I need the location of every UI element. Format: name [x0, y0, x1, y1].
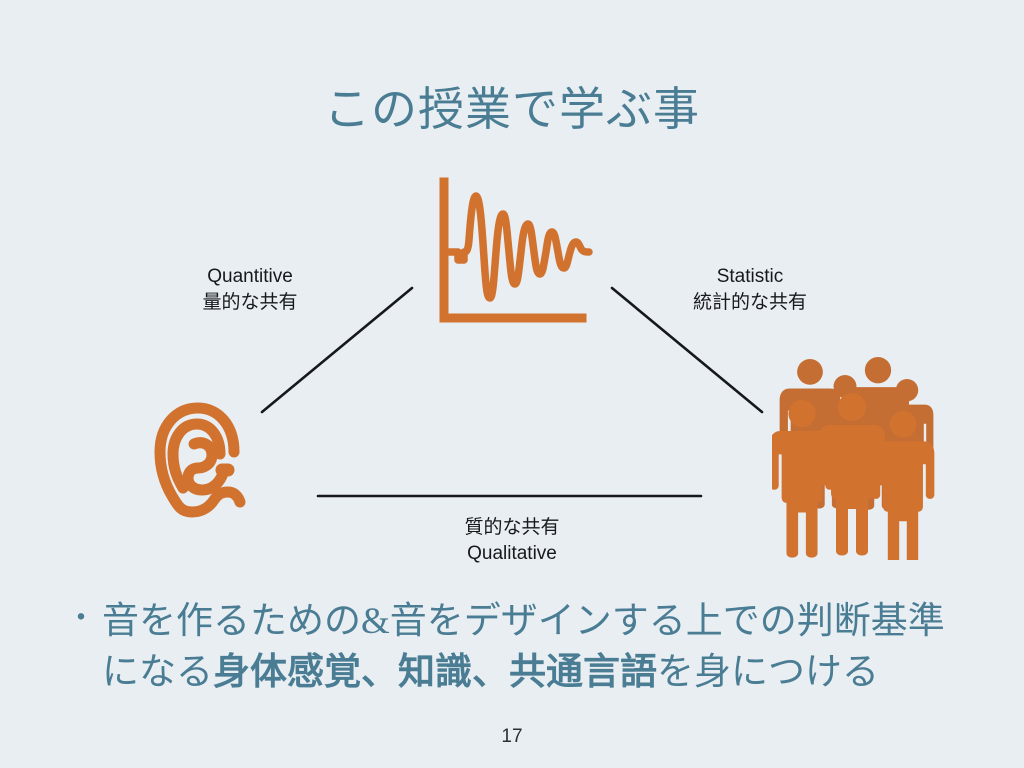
page-title: この授業で学ぶ事	[0, 84, 1024, 137]
bullet-text: 音を作るための&音をデザインする上での判断基準 になる身体感覚、知識、共通言語を…	[102, 596, 980, 698]
bullet-line-2-suffix: を身につける	[657, 652, 879, 693]
node-label-statistic: Statistic 統計的な共有	[620, 264, 880, 316]
bullet-list: ・ 音を作るための&音をデザインする上での判断基準 になる身体感覚、知識、共通言…	[60, 596, 980, 698]
node-label-qualitative-ja: 質的な共有	[372, 515, 652, 541]
waveform-icon	[424, 170, 604, 330]
triangle-diagram: Quantitive 量的な共有 Statistic 統計的な共有 質的な共有 …	[0, 150, 1024, 590]
bullet-marker: ・	[60, 596, 102, 643]
bullet-line-2: になる身体感覚、知識、共通言語を身につける	[102, 647, 980, 698]
bullet-line-2-prefix: になる	[102, 652, 213, 693]
node-label-quantitive-en: Quantitive	[120, 264, 380, 290]
node-label-qualitative: 質的な共有 Qualitative	[372, 515, 652, 567]
ear-icon	[148, 400, 260, 520]
list-item: ・ 音を作るための&音をデザインする上での判断基準 になる身体感覚、知識、共通言…	[60, 596, 980, 698]
node-label-qualitative-en: Qualitative	[372, 541, 652, 567]
node-label-statistic-en: Statistic	[620, 264, 880, 290]
slide: この授業で学ぶ事	[0, 0, 1024, 768]
people-icon	[772, 345, 940, 560]
node-label-quantitive: Quantitive 量的な共有	[120, 264, 380, 316]
node-label-quantitive-ja: 量的な共有	[120, 290, 380, 316]
bullet-line-1: 音を作るための&音をデザインする上での判断基準	[102, 596, 980, 647]
bullet-line-2-emphasis: 身体感覚、知識、共通言語	[213, 652, 657, 693]
node-label-statistic-ja: 統計的な共有	[620, 290, 880, 316]
page-number: 17	[0, 726, 1024, 748]
